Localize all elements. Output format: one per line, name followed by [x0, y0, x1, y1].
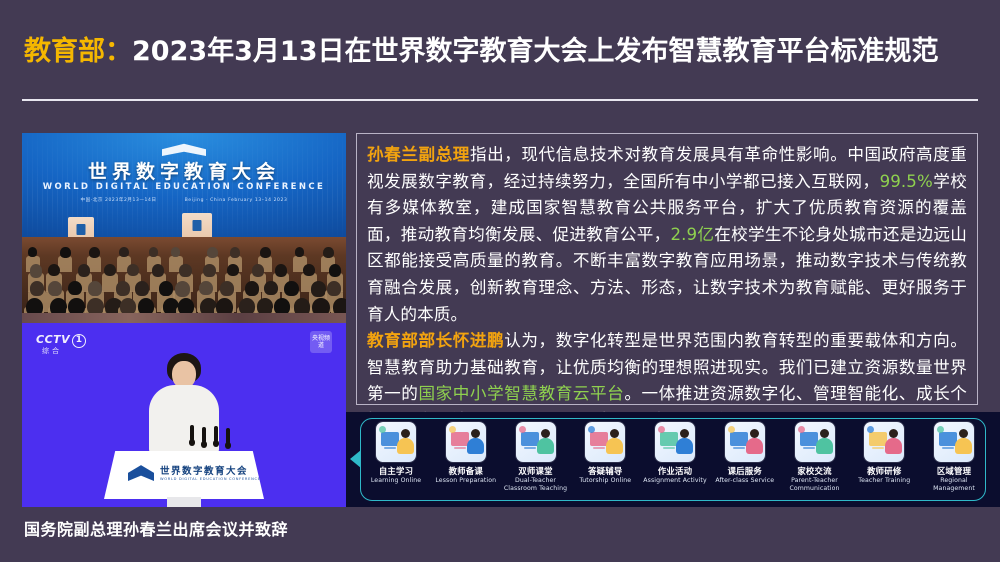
audience-head — [333, 298, 346, 313]
scenario-tile-label-cn: 课后服务 — [713, 466, 777, 476]
teacher-laptop-icon — [446, 422, 486, 462]
scenario-tile-9[interactable]: 区域管理Regional Management — [922, 422, 986, 492]
platform-scenarios-strip: 自主学习Learning Online教师备课Lesson Preparatio… — [346, 412, 1000, 507]
scenario-tile-label-en: Tutorship Online — [573, 477, 637, 485]
audience-head — [303, 264, 315, 276]
audience-head — [260, 247, 271, 258]
audience-head — [159, 281, 173, 296]
stage-subtitle: 中国·北京 2023年2月13—14日Beijing · China Febru… — [22, 197, 346, 203]
stage-title-cn: 世界数字教育大会 — [22, 157, 346, 184]
scenario-tile-label-en: Learning Online — [364, 477, 428, 485]
audience-head — [60, 247, 70, 258]
cctv-sub-label: 综合 — [42, 346, 62, 356]
microphone-base-2 — [201, 441, 207, 448]
speaker-body — [149, 385, 219, 455]
audience-head — [171, 247, 180, 257]
speaker-name-sun-chunlan: 孙春兰副总理 — [367, 145, 470, 164]
audience-head — [30, 281, 44, 296]
scenario-tile-label-cn: 自主学习 — [364, 466, 428, 476]
audience-head — [89, 247, 100, 258]
speaker-name-huai-jinpeng: 教育部部长怀进鹏 — [367, 331, 504, 350]
audience-head — [199, 281, 213, 295]
audience-head — [245, 281, 259, 296]
audience-head — [119, 247, 128, 257]
audience-head — [50, 298, 67, 313]
scenario-tile-label-en: Parent-Teacher Communication — [783, 477, 847, 492]
scenario-tile-label-cn: 教师备课 — [434, 466, 498, 476]
audience-head — [30, 264, 43, 278]
conference-hall-photo: 世界数字教育大会 WORLD DIGITAL EDUCATION CONFERE… — [22, 133, 346, 313]
audience-head — [152, 264, 164, 277]
audience-head — [239, 298, 255, 313]
audience-head — [295, 247, 304, 257]
dual-teacher-screen-icon — [516, 422, 556, 462]
audience-head — [68, 298, 84, 313]
header-divider — [22, 99, 978, 101]
lectern: 世界数字教育大会 WORLD DIGITAL EDUCATION CONFERE… — [104, 451, 264, 499]
audience-head — [178, 298, 194, 313]
scenario-tile-label-en: Teacher Training — [852, 477, 916, 485]
scenario-tile-3[interactable]: 双师课堂Dual-Teacher Classroom Teaching — [504, 422, 568, 492]
stage-subtitle-en: Beijing · China February 13–14 2023 — [171, 198, 302, 203]
scenario-tile-label-cn: 双师课堂 — [504, 466, 568, 476]
scenario-tile-6[interactable]: 课后服务After-class Service — [713, 422, 777, 485]
lectern-title-cn: 世界数字教育大会 — [160, 463, 248, 477]
audience-head — [149, 247, 158, 257]
scenario-tile-label-cn: 教师研修 — [852, 466, 916, 476]
photo-caption: 国务院副总理孙春兰出席会议并致辞 — [24, 516, 288, 540]
audience-head — [230, 247, 240, 258]
scenario-tile-label-cn: 家校交流 — [783, 466, 847, 476]
audience-head — [216, 298, 233, 313]
audience-head — [127, 264, 139, 276]
audience-head — [104, 264, 116, 276]
slide-root: 教育部：2023年3月13日在世界数字教育大会上发布智慧教育平台标准规范 世界数… — [0, 0, 1000, 562]
stage-backdrop: 世界数字教育大会 WORLD DIGITAL EDUCATION CONFERE… — [22, 133, 346, 243]
tv-top-strip — [22, 313, 346, 323]
audience-head — [48, 264, 60, 276]
audience-head — [207, 247, 218, 258]
scenario-tile-7[interactable]: 家校交流Parent-Teacher Communication — [783, 422, 847, 492]
scenario-tile-label-en: Dual-Teacher Classroom Teaching — [504, 477, 568, 492]
scenario-tile-label-en: Assignment Activity — [643, 477, 707, 485]
audience-head — [179, 264, 191, 277]
scenario-tile-label-en: Regional Management — [922, 477, 986, 492]
tutor-chat-icon — [585, 422, 625, 462]
audience-head — [257, 298, 273, 313]
summary-textbox: 孙春兰副总理指出，现代信息技术对教育发展具有革命性影响。中国政府高度重视发展数字… — [356, 133, 978, 405]
audience-head — [312, 298, 330, 313]
student-computer-icon — [376, 422, 416, 462]
audience-head — [116, 281, 130, 296]
paragraph-vice-premier: 孙春兰副总理指出，现代信息技术对教育发展具有革命性影响。中国政府高度重视发展数字… — [367, 142, 967, 328]
lectern-title-en: WORLD DIGITAL EDUCATION CONFERENCE — [160, 477, 261, 481]
broadcast-watermark: 央视频道 — [310, 331, 332, 353]
audience-head — [264, 281, 278, 295]
scenario-tile-8[interactable]: 教师研修Teacher Training — [852, 422, 916, 485]
cctv-channel-number: 1 — [72, 334, 86, 348]
afterclass-child-icon — [725, 422, 765, 462]
audience-head — [284, 281, 299, 296]
scenario-tile-label-cn: 答疑辅导 — [573, 466, 637, 476]
lectern-logo-icon — [128, 463, 154, 481]
title-org-label: 教育部： — [24, 36, 132, 67]
microphone-base-4 — [225, 442, 231, 449]
audience-head — [227, 264, 239, 276]
manager-desk-icon — [934, 422, 974, 462]
microphone-base-1 — [189, 439, 195, 446]
photo-column: 世界数字教育大会 WORLD DIGITAL EDUCATION CONFERE… — [22, 133, 346, 507]
tv-frame: CCTV1 综合 央视频道 世界数字教育大会 WORLD DIGITAL EDU… — [22, 313, 346, 507]
scenario-tiles: 自主学习Learning Online教师备课Lesson Preparatio… — [364, 422, 986, 502]
audience-head — [275, 264, 287, 277]
cctv-text: CCTV — [36, 333, 70, 346]
audience-head — [138, 298, 154, 313]
audience-head — [323, 247, 333, 258]
slide-header: 教育部：2023年3月13日在世界数字教育大会上发布智慧教育平台标准规范 — [0, 0, 1000, 100]
audience-head — [26, 298, 43, 313]
audience-head — [311, 281, 326, 297]
audience-head — [203, 264, 215, 277]
stage-title-en: WORLD DIGITAL EDUCATION CONFERENCE — [22, 182, 346, 192]
audience-head — [274, 298, 290, 313]
audience-head — [88, 281, 102, 296]
audience-head — [135, 281, 149, 296]
audience-head — [329, 264, 341, 277]
microphone-base-3 — [213, 440, 219, 447]
platform-name-highlight: 国家中小学智慧教育云平台 — [418, 384, 624, 403]
scenario-tile-label-cn: 区域管理 — [922, 466, 986, 476]
scenario-tile-label-en: Lesson Preparation — [434, 477, 498, 485]
audience-head — [28, 247, 38, 257]
stat-multimedia-classroom-percent: 99.5% — [880, 172, 933, 191]
scenario-tile-2[interactable]: 教师备课Lesson Preparation — [434, 422, 498, 485]
stat-student-count: 2.9亿 — [671, 225, 715, 244]
audience-head — [327, 281, 341, 296]
title-main-text: 2023年3月13日在世界数字教育大会上发布智慧教育平台标准规范 — [132, 36, 939, 67]
stage-subtitle-cn: 中国·北京 2023年2月13—14日 — [67, 197, 171, 203]
audience-head — [87, 298, 104, 313]
audience-seat — [58, 256, 72, 272]
scenario-tile-label-cn: 作业活动 — [643, 466, 707, 476]
scenario-tile-label-en: After-class Service — [713, 477, 777, 485]
scenario-tile-5[interactable]: 作业活动Assignment Activity — [643, 422, 707, 485]
audience-head — [252, 264, 264, 277]
page-title: 教育部：2023年3月13日在世界数字教育大会上发布智慧教育平台标准规范 — [24, 30, 984, 74]
teacher-group-icon — [864, 422, 904, 462]
audience-head — [120, 298, 136, 313]
audience-head — [175, 281, 190, 297]
audience-head — [78, 264, 90, 277]
audience-head — [294, 298, 311, 313]
audience-head — [220, 281, 234, 296]
cctv-broadcast-photo: CCTV1 综合 央视频道 世界数字教育大会 WORLD DIGITAL EDU… — [22, 313, 346, 507]
parent-teacher-cloud-icon — [795, 422, 835, 462]
audience-head — [48, 281, 63, 296]
lectern-base — [167, 497, 201, 507]
audience-crowd — [22, 241, 346, 313]
scenario-tile-1[interactable]: 自主学习Learning Online — [364, 422, 428, 485]
scenario-tile-4[interactable]: 答疑辅导Tutorship Online — [573, 422, 637, 485]
assignment-phone-icon — [655, 422, 695, 462]
audience-head — [68, 281, 82, 295]
